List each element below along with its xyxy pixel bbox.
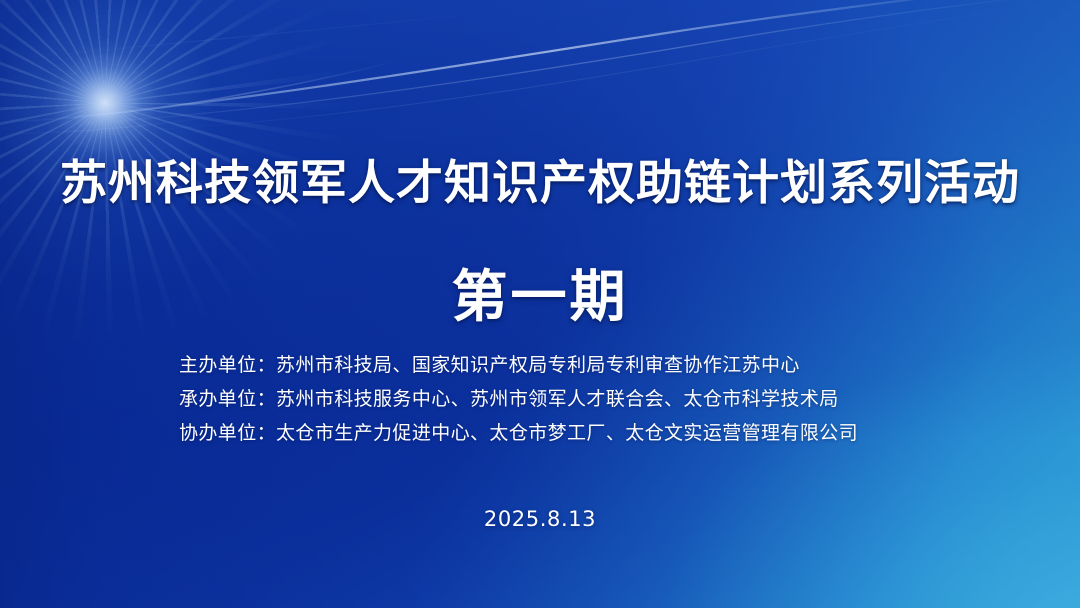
organizer-list: 主办单位：苏州市科技局、国家知识产权局专利局专利审查协作江苏中心 承办单位：苏州… [179,348,939,450]
organizer-line-host: 主办单位：苏州市科技局、国家知识产权局专利局专利审查协作江苏中心 [179,348,939,382]
organizer-value-undertaker: 苏州市科技服务中心、苏州市领军人才联合会、太仓市科学技术局 [276,388,839,410]
organizer-line-coorganizer: 协办单位：太仓市生产力促进中心、太仓市梦工厂、太仓文实运营管理有限公司 [179,416,939,450]
poster-main-title: 苏州科技领军人才知识产权助链计划系列活动 [0,155,1080,214]
organizer-label-undertaker: 承办单位： [179,388,276,410]
poster-subtitle-phase: 第一期 [0,264,1080,331]
poster-content: 苏州科技领军人才知识产权助链计划系列活动 第一期 主办单位：苏州市科技局、国家知… [0,0,1080,608]
event-date: 2025.8.13 [0,507,1080,531]
organizer-line-undertaker: 承办单位：苏州市科技服务中心、苏州市领军人才联合会、太仓市科学技术局 [179,382,939,416]
organizer-value-host: 苏州市科技局、国家知识产权局专利局专利审查协作江苏中心 [276,354,800,376]
poster-canvas: 苏州科技领军人才知识产权助链计划系列活动 第一期 主办单位：苏州市科技局、国家知… [0,0,1080,608]
organizer-value-coorganizer: 太仓市生产力促进中心、太仓市梦工厂、太仓文实运营管理有限公司 [276,422,858,444]
organizer-label-host: 主办单位： [179,354,276,376]
organizer-label-coorganizer: 协办单位： [179,422,276,444]
